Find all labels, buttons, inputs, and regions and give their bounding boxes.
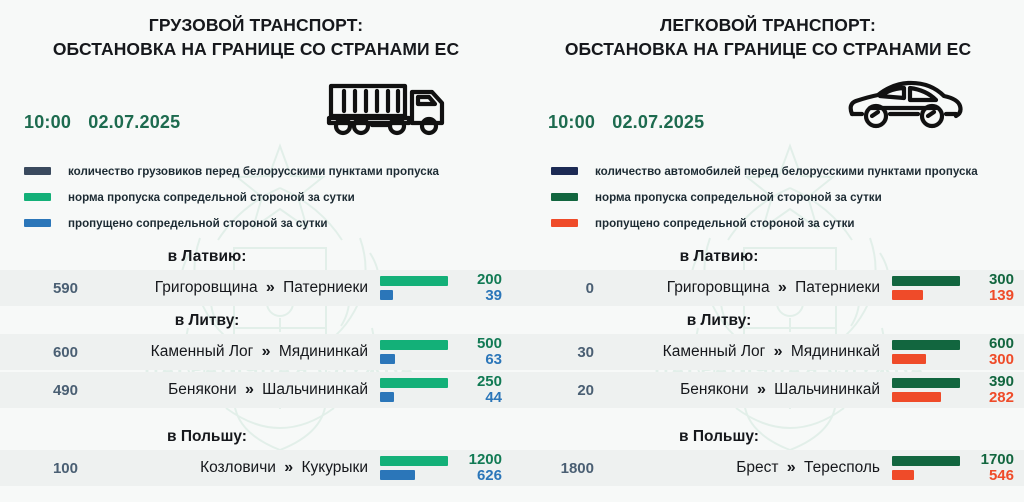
legend-label-norm: норма пропуска сопредельной стороной за … [68,191,355,204]
legend-item-norm: норма пропуска сопредельной стороной за … [551,184,978,210]
row-from: Брест [736,459,778,476]
row-values: 1200 626 [454,452,512,484]
bar-passed [380,290,393,300]
rows-freight: в Латвию: 590 Григоровщина » Патерниеки … [0,244,512,488]
section-heading-latvia: в Латвию: [512,244,1024,270]
legend-item-queue: количество грузовиков перед белорусскими… [24,158,439,184]
row-bars [380,340,454,364]
value-passed: 300 [966,352,1014,368]
datetime-freight: 10:00 02.07.2025 [24,112,180,133]
bar-norm [892,456,960,466]
legend-swatch-norm-icon [551,193,578,201]
bar-norm [380,378,448,388]
row-to: Шальчининкай [774,381,880,398]
row-queue-count: 30 [512,344,604,361]
row-bars [892,378,966,402]
row-values: 600 300 [966,336,1024,368]
value-norm: 300 [966,272,1014,288]
double-chevron-icon: » [284,459,293,476]
row-queue-count: 20 [512,382,604,399]
legend-swatch-norm-icon [24,193,51,201]
bar-norm [892,276,960,286]
time-value-passenger: 10:00 [548,112,595,132]
value-norm: 1200 [454,452,502,468]
panel-title-line2: ОБСТАНОВКА НА ГРАНИЦЕ СО СТРАНАМИ ЕС [0,38,512,62]
row-values: 500 63 [454,336,512,368]
row-bars [380,456,454,480]
row-queue-count: 1800 [512,460,604,477]
value-passed: 626 [454,468,502,484]
table-row[interactable]: 1800 Брест » Тересполь 1700 546 [512,450,1024,486]
panel-freight-transport: ГРУЗОВОЙ ТРАНСПОРТ: ОБСТАНОВКА НА ГРАНИЦ… [0,0,512,502]
bar-norm [380,276,448,286]
value-norm: 1700 [966,452,1014,468]
table-row[interactable]: 30 Каменный Лог » Мядининкай 600 300 [512,334,1024,370]
row-queue-count: 100 [0,460,88,477]
legend-item-passed: пропущено сопредельной стороной за сутки [551,210,978,236]
value-passed: 139 [966,288,1014,304]
bar-passed [380,354,395,364]
bar-passed [892,470,914,480]
table-row[interactable]: 590 Григоровщина » Патерниеки 200 39 [0,270,512,306]
bar-passed [892,290,923,300]
row-bars [380,276,454,300]
row-bars [892,456,966,480]
date-value-freight: 02.07.2025 [88,112,180,132]
value-norm: 200 [454,272,502,288]
row-to: Тересполь [804,459,880,476]
row-from: Каменный Лог [151,343,254,360]
row-from: Бенякони [680,381,749,398]
row-queue-count: 600 [0,344,88,361]
row-queue-count: 0 [512,280,604,297]
bar-passed [892,392,941,402]
double-chevron-icon: » [266,279,275,296]
row-from: Каменный Лог [663,343,766,360]
bar-norm [380,456,448,466]
legend-swatch-passed-icon [551,219,578,227]
row-to: Шальчининкай [262,381,368,398]
row-bars [892,340,966,364]
double-chevron-icon: » [774,343,783,360]
table-row[interactable]: 490 Бенякони » Шальчининкай 250 44 [0,372,512,408]
double-chevron-icon: » [757,381,766,398]
section-spacer [0,410,512,424]
row-route: Козловичи » Кукурыки [88,459,380,477]
table-row[interactable]: 600 Каменный Лог » Мядининкай 500 63 [0,334,512,370]
panel-title-line1: ГРУЗОВОЙ ТРАНСПОРТ: [0,14,512,38]
row-bars [380,378,454,402]
rows-passenger: в Латвию: 0 Григоровщина » Патерниеки 30… [512,244,1024,488]
table-row[interactable]: 0 Григоровщина » Патерниеки 300 139 [512,270,1024,306]
time-value-freight: 10:00 [24,112,71,132]
legend-item-norm: норма пропуска сопредельной стороной за … [24,184,439,210]
section-heading-poland: в Польшу: [0,424,512,450]
legend-label-queue: количество грузовиков перед белорусскими… [68,165,439,178]
section-heading-lithuania: в Литву: [0,308,512,334]
date-value-passenger: 02.07.2025 [612,112,704,132]
row-to: Патерниеки [795,279,880,296]
legend-label-passed: пропущено сопредельной стороной за сутки [595,217,855,230]
panel-title-line2: ОБСТАНОВКА НА ГРАНИЦЕ СО СТРАНАМИ ЕС [512,38,1024,62]
value-norm: 390 [966,374,1014,390]
datetime-passenger: 10:00 02.07.2025 [548,112,704,133]
row-values: 1700 546 [966,452,1024,484]
row-to: Мядининкай [279,343,368,360]
row-route: Григоровщина » Патерниеки [604,279,892,297]
panel-passenger-transport: ЛЕГКОВОЙ ТРАНСПОРТ: ОБСТАНОВКА НА ГРАНИЦ… [512,0,1024,502]
bar-norm [380,340,448,350]
row-values: 390 282 [966,374,1024,406]
row-from: Козловичи [200,459,276,476]
row-route: Каменный Лог » Мядининкай [604,343,892,361]
row-from: Григоровщина [155,279,258,296]
row-values: 250 44 [454,374,512,406]
double-chevron-icon: » [262,343,271,360]
table-row[interactable]: 100 Козловичи » Кукурыки 1200 626 [0,450,512,486]
truck-icon [326,78,446,136]
bar-passed [892,354,926,364]
panel-title-line1: ЛЕГКОВОЙ ТРАНСПОРТ: [512,14,1024,38]
row-from: Бенякони [168,381,237,398]
infographic-page: ГРУЗОВОЙ ТРАНСПОРТ: ОБСТАНОВКА НА ГРАНИЦ… [0,0,1024,502]
legend-swatch-queue-icon [551,167,578,175]
row-route: Брест » Тересполь [604,459,892,477]
value-norm: 500 [454,336,502,352]
row-bars [892,276,966,300]
double-chevron-icon: » [778,279,787,296]
value-passed: 282 [966,390,1014,406]
table-row[interactable]: 20 Бенякони » Шальчининкай 390 282 [512,372,1024,408]
section-heading-poland: в Польшу: [512,424,1024,450]
value-passed: 44 [454,390,502,406]
row-route: Бенякони » Шальчининкай [88,381,380,399]
row-to: Патерниеки [283,279,368,296]
bar-passed [380,392,394,402]
bar-passed [380,470,415,480]
value-norm: 600 [966,336,1014,352]
row-route: Григоровщина » Патерниеки [88,279,380,297]
bar-norm [892,378,960,388]
row-queue-count: 590 [0,280,88,297]
legend-freight: количество грузовиков перед белорусскими… [24,158,439,236]
value-passed: 546 [966,468,1014,484]
value-norm: 250 [454,374,502,390]
section-heading-latvia: в Латвию: [0,244,512,270]
legend-label-passed: пропущено сопредельной стороной за сутки [68,217,328,230]
legend-swatch-queue-icon [24,167,51,175]
legend-passenger: количество автомобилей перед белорусским… [551,158,978,236]
section-spacer [512,410,1024,424]
legend-swatch-passed-icon [24,219,51,227]
legend-label-norm: норма пропуска сопредельной стороной за … [595,191,882,204]
legend-label-queue: количество автомобилей перед белорусским… [595,165,978,178]
double-chevron-icon: » [245,381,254,398]
row-to: Кукурыки [301,459,368,476]
row-to: Мядининкай [791,343,880,360]
section-heading-lithuania: в Литву: [512,308,1024,334]
legend-item-queue: количество автомобилей перед белорусским… [551,158,978,184]
double-chevron-icon: » [787,459,796,476]
value-passed: 63 [454,352,502,368]
row-route: Каменный Лог » Мядининкай [88,343,380,361]
car-icon [844,78,964,132]
bar-norm [892,340,960,350]
legend-item-passed: пропущено сопредельной стороной за сутки [24,210,439,236]
row-values: 300 139 [966,272,1024,304]
row-values: 200 39 [454,272,512,304]
value-passed: 39 [454,288,502,304]
row-queue-count: 490 [0,382,88,399]
panel-title-passenger: ЛЕГКОВОЙ ТРАНСПОРТ: ОБСТАНОВКА НА ГРАНИЦ… [512,0,1024,61]
row-route: Бенякони » Шальчининкай [604,381,892,399]
panel-title-freight: ГРУЗОВОЙ ТРАНСПОРТ: ОБСТАНОВКА НА ГРАНИЦ… [0,0,512,61]
row-from: Григоровщина [667,279,770,296]
